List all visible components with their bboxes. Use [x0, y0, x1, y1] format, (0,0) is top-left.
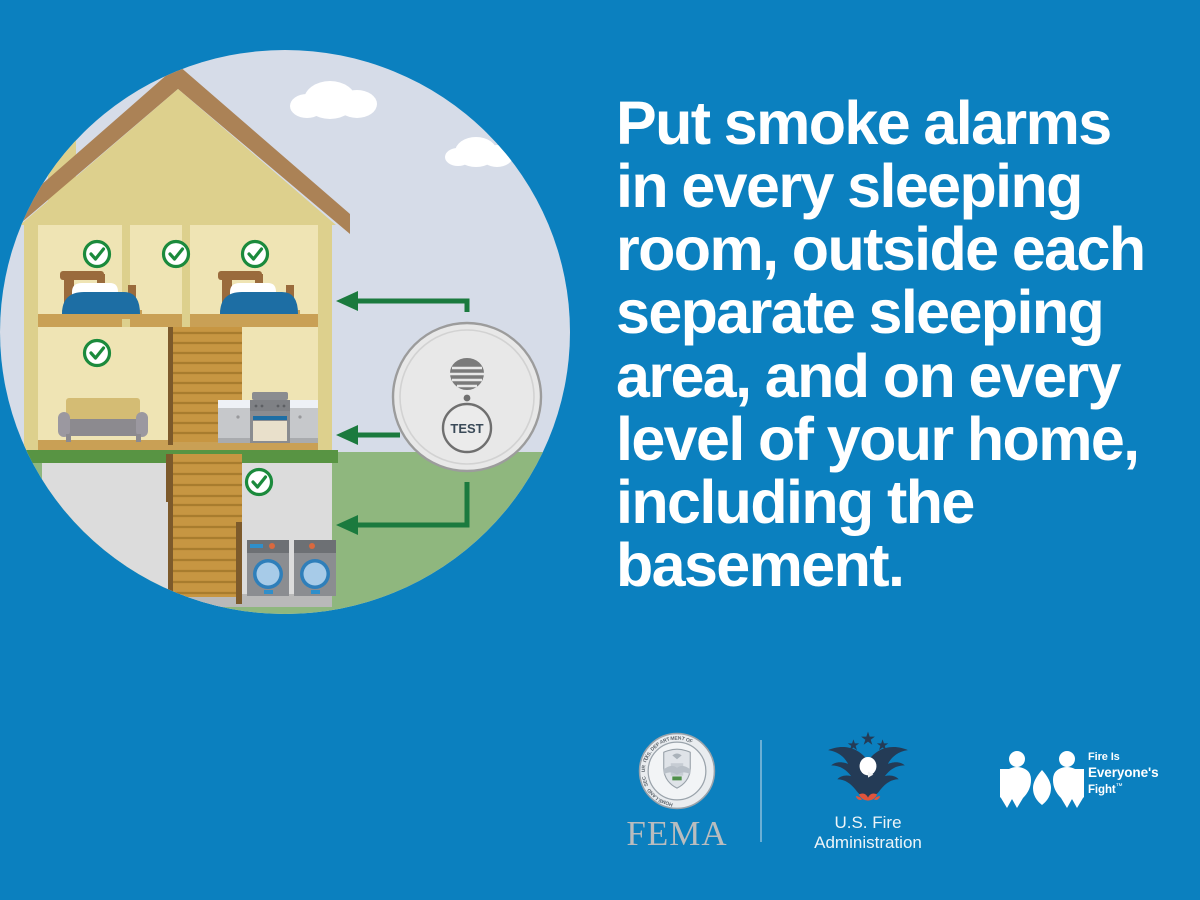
logo-divider [760, 740, 762, 842]
checkmark-icon [85, 341, 110, 366]
house-illustration: TEST [0, 42, 580, 622]
feef-line-3: Fight™ [1088, 782, 1174, 798]
checkmark-icon [247, 470, 272, 495]
headline-line: level of your home, [616, 408, 1156, 471]
feef-fight-word: Fight [1088, 784, 1116, 796]
page-title: Put smoke alarms in every sleeping room,… [616, 92, 1156, 597]
headline-line: in every sleeping [616, 155, 1156, 218]
logo-row: U.S. DEP ART MEN T OF HOME LAND SEC UR I… [600, 730, 1170, 870]
usfa-line-2: Administration [788, 833, 948, 853]
smoke-alarm: TEST [393, 323, 541, 471]
headline-line: basement. [616, 534, 1156, 597]
fema-logo: U.S. DEP ART MEN T OF HOME LAND SEC UR I… [612, 732, 742, 856]
dhs-seal: U.S. DEP ART MEN T OF HOME LAND SEC UR I… [638, 732, 716, 810]
usfa-eagle-icon [822, 730, 914, 810]
checkmark-icon [85, 242, 110, 267]
feef-wordmark: Fire Is Everyone's Fight™ [1088, 750, 1174, 798]
trademark-symbol: ™ [1116, 783, 1123, 790]
two-figures-flame-icon [1000, 744, 1084, 810]
stair-landing [168, 454, 242, 500]
svg-text:UR: UR [641, 765, 648, 773]
headline-line: Put smoke alarms [616, 92, 1156, 155]
poster-canvas: TEST Put smoke alarms in every sleeping … [0, 0, 1200, 900]
checkmark-icon [164, 242, 189, 267]
usfa-wordmark: U.S. Fire Administration [788, 813, 948, 853]
headline-line: including the [616, 471, 1156, 534]
feef-line-2: Everyone's [1088, 764, 1174, 782]
sofa [58, 398, 148, 442]
checkmark-icon [243, 242, 268, 267]
headline-line: room, outside each [616, 218, 1156, 281]
headline-line: area, and on every [616, 345, 1156, 408]
feef-line-1: Fire Is [1088, 750, 1174, 764]
headline-line: separate sleeping [616, 281, 1156, 344]
alarm-led-icon [464, 395, 471, 402]
usfa-line-1: U.S. Fire [788, 813, 948, 833]
chimney-cap [42, 86, 83, 100]
footer-logos: U.S. DEP ART MEN T OF HOME LAND SEC UR I… [600, 730, 1170, 870]
fema-wordmark: FEMA [612, 816, 742, 851]
usfa-logo: U.S. Fire Administration [788, 730, 948, 860]
fire-is-everyones-fight-logo: Fire Is Everyone's Fight™ [1000, 744, 1175, 822]
alarm-test-label: TEST [450, 421, 483, 436]
